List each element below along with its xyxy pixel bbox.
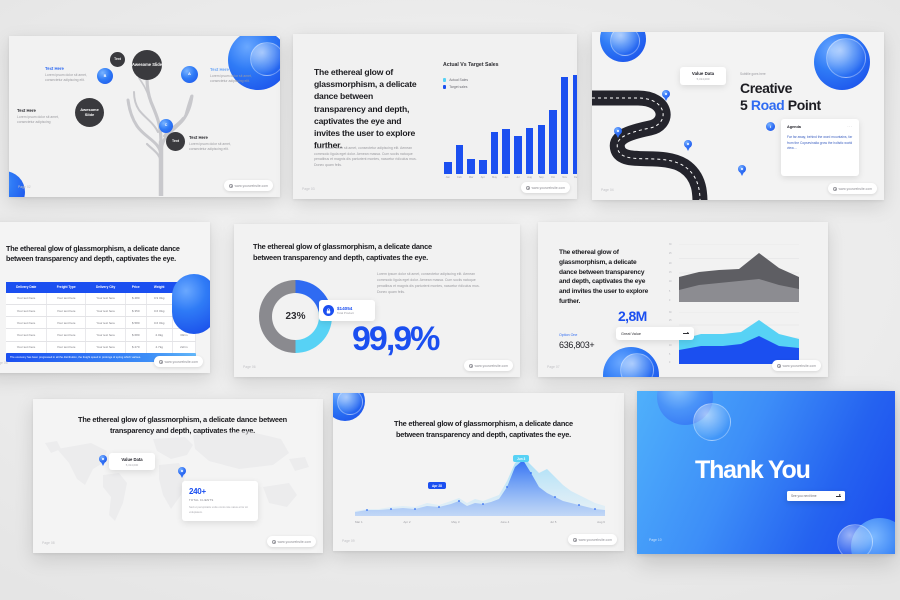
slide-thumbnail-data-table[interactable]: The ethereal glow of glassmorphism, a de… bbox=[0, 222, 210, 373]
table-column-header: Delivery City bbox=[86, 282, 125, 293]
x-axis-label: Mar bbox=[467, 176, 475, 179]
table-cell: Your text here bbox=[6, 293, 46, 305]
website-url: www.yourwebsite.com bbox=[235, 184, 268, 188]
slide-body-text: Lorem ipsum dolor sit amet, consectetur … bbox=[377, 271, 482, 296]
table-cell: 0.6 Okg bbox=[146, 304, 172, 316]
total-clients-value: 240+ bbox=[189, 487, 251, 496]
table-cell: Your text here bbox=[6, 341, 46, 353]
table-cell: 0.9 Okg bbox=[146, 293, 172, 305]
tree-label-desc: Lorem ipsum dolor sit amet, consectetur … bbox=[17, 115, 71, 125]
search-icon bbox=[469, 364, 473, 368]
bar-column bbox=[467, 159, 475, 174]
tree-node-b[interactable]: B bbox=[97, 68, 113, 84]
bar-column bbox=[514, 136, 522, 174]
bar-column bbox=[456, 145, 464, 174]
slide-thumbnail-tree-diagram[interactable]: Awesome Slide Text A B Awesome Slide C T… bbox=[9, 36, 280, 197]
table-column-header: Weight bbox=[146, 282, 172, 293]
slide-thumbnail-world-map[interactable]: The ethereal glow of glassmorphism, a de… bbox=[33, 399, 323, 553]
tree-label-left-bottom: Text Here Lorem ipsum dolor sit amet, co… bbox=[17, 108, 71, 125]
bar-segment-target bbox=[502, 129, 510, 174]
table-column-header: Freight Type bbox=[46, 282, 85, 293]
chart-title: Actual Vs Target Sales bbox=[443, 62, 499, 68]
tree-node-awesome-slide-2[interactable]: Awesome Slide bbox=[75, 98, 104, 127]
table-row[interactable]: Your text hereYour text hereYour text he… bbox=[6, 317, 196, 329]
bar-segment-target bbox=[444, 162, 452, 174]
option-value: 636,803+ bbox=[559, 340, 594, 350]
table-row[interactable]: Your text hereYour text hereYour text he… bbox=[6, 304, 196, 316]
x-axis-label: Mar 1 bbox=[355, 520, 363, 524]
website-url-pill[interactable]: www.yourwebsite.com bbox=[464, 360, 513, 371]
table-column-header: Delivery Date bbox=[6, 282, 46, 293]
search-icon bbox=[159, 360, 163, 364]
table-cell: 0.6 Okg bbox=[146, 317, 172, 329]
x-axis-label: Nov bbox=[561, 176, 569, 179]
x-axis-label: Jun bbox=[502, 176, 510, 179]
bar-segment-target bbox=[573, 75, 577, 174]
decorative-orb bbox=[172, 274, 210, 334]
table-cell: 2.0kg bbox=[146, 329, 172, 341]
y-axis-tick: 10 bbox=[669, 345, 672, 347]
map-pin[interactable] bbox=[738, 165, 746, 176]
total-clients-desc: Sed ut perspiciatis unde omnis iste natu… bbox=[189, 506, 251, 515]
lock-icon bbox=[323, 305, 334, 316]
see-you-next-time-label: See you next time bbox=[791, 494, 817, 498]
title-part-point: Point bbox=[784, 97, 820, 113]
website-url-pill[interactable]: www.yourwebsite.com bbox=[772, 360, 821, 371]
table-cell: $ 680 bbox=[125, 329, 146, 341]
x-axis-label: Apr 2 bbox=[403, 520, 410, 524]
x-axis-label: Jul bbox=[514, 176, 522, 179]
slide-headline: The ethereal glow of glassmorphism, a de… bbox=[314, 66, 424, 151]
tree-label-desc: Lorem ipsum dolor sit amet, consectetur … bbox=[210, 74, 264, 84]
tree-label-title: Text Here bbox=[189, 135, 243, 140]
slide-headline: The ethereal glow of glassmorphism, a de… bbox=[253, 242, 458, 263]
bar-column bbox=[573, 75, 577, 174]
x-axis-label: June 4 bbox=[500, 520, 509, 524]
table-row[interactable]: Your text hereYour text hereYour text he… bbox=[6, 341, 196, 353]
tooltip-value: $14054 bbox=[337, 306, 354, 311]
table-cell: $ 480 bbox=[125, 293, 146, 305]
title-part-number: 5 bbox=[740, 97, 751, 113]
table-footnote-text: The economy has been progressed in all t… bbox=[10, 356, 141, 359]
table-cell: Your text here bbox=[46, 341, 85, 353]
bar-segment-target bbox=[467, 159, 475, 174]
slide-headline: The ethereal glow of glassmorphism, a de… bbox=[559, 248, 655, 307]
slide-title-line2: 5 Road Point bbox=[740, 97, 821, 113]
info-icon[interactable]: i bbox=[766, 122, 775, 131]
map-pin[interactable] bbox=[99, 455, 107, 466]
website-url: www.yourwebsite.com bbox=[278, 540, 311, 544]
total-product-tooltip[interactable]: $14054 Total Product bbox=[319, 300, 375, 321]
table-cell: Your text here bbox=[6, 304, 46, 316]
bar-segment-target bbox=[479, 160, 487, 174]
search-icon bbox=[573, 538, 577, 542]
bar-segment-target bbox=[549, 110, 557, 174]
tree-label-right-top: Text Here Lorem ipsum dolor sit amet, co… bbox=[210, 67, 264, 84]
table-cell: Your text here bbox=[86, 317, 125, 329]
value-data-title: Value Data bbox=[692, 71, 714, 76]
bar-column bbox=[549, 110, 557, 174]
tree-label-title: Text Here bbox=[17, 108, 71, 113]
table-cell: $ 270 bbox=[125, 341, 146, 353]
bar-segment-target bbox=[561, 77, 569, 174]
table-row[interactable]: Your text hereYour text hereYour text he… bbox=[6, 329, 196, 341]
slide-thumbnail-thank-you[interactable]: Thank You See you next time Page 10 bbox=[637, 391, 895, 554]
slide-thumbnail-bar-chart[interactable]: The ethereal glow of glassmorphism, a de… bbox=[293, 34, 577, 199]
website-url: www.yourwebsite.com bbox=[783, 364, 816, 368]
trend-area-plot bbox=[355, 451, 605, 516]
trend-chart-x-axis: Mar 1Apr 2May 3June 4Jul 5Aug 6 bbox=[355, 520, 605, 524]
table-cell: 22cm bbox=[172, 341, 195, 353]
slide-deck-overview: Awesome Slide Text A B Awesome Slide C T… bbox=[0, 0, 900, 600]
bar-segment-target bbox=[538, 125, 546, 174]
slide-thumbnail-donut-chart[interactable]: The ethereal glow of glassmorphism, a de… bbox=[234, 224, 520, 377]
website-url: www.yourwebsite.com bbox=[839, 187, 872, 191]
website-url: www.yourwebsite.com bbox=[165, 360, 198, 364]
arrow-right-icon bbox=[836, 496, 841, 497]
x-axis-label: Aug bbox=[526, 176, 534, 179]
bar-column bbox=[479, 160, 487, 174]
map-pin[interactable] bbox=[684, 140, 692, 151]
x-axis-label: May 3 bbox=[451, 520, 459, 524]
ellipsis-icon[interactable]: ··· bbox=[847, 124, 853, 129]
y-axis-tick: 10 bbox=[669, 281, 672, 283]
y-axis-tick: 30 bbox=[669, 312, 672, 314]
value-data-value: 5,314,000 bbox=[697, 77, 710, 81]
table-cell: $ 350 bbox=[125, 304, 146, 316]
page-number: Page 04 bbox=[601, 188, 614, 192]
y-axis-tick: 30 bbox=[669, 244, 672, 246]
page-number: Page 07 bbox=[547, 365, 560, 369]
gray-area-plot bbox=[679, 244, 799, 302]
page-number: Page 09 bbox=[342, 539, 355, 543]
slide-headline: The ethereal glow of glassmorphism, a de… bbox=[6, 244, 206, 264]
decorative-orb-glass bbox=[837, 524, 873, 554]
value-data-title: Value Data bbox=[121, 457, 142, 462]
bar-chart-plot bbox=[444, 70, 577, 174]
annotation-label: Jun 3 bbox=[517, 457, 525, 461]
bar-segment-target bbox=[514, 136, 522, 174]
arrow-right-icon bbox=[683, 333, 689, 334]
slide-headline: The ethereal glow of glassmorphism, a de… bbox=[381, 419, 586, 440]
y-axis-tick: 5 bbox=[669, 354, 672, 356]
bar-segment-target bbox=[526, 128, 534, 174]
decorative-orb-glass bbox=[693, 403, 731, 441]
search-icon bbox=[526, 186, 530, 190]
x-axis-label: Dec bbox=[573, 176, 577, 179]
page-number: Page 05 bbox=[0, 361, 8, 365]
decorative-orb bbox=[9, 171, 25, 197]
bar-column bbox=[538, 125, 546, 174]
x-axis-label: Sep bbox=[538, 176, 546, 179]
table-cell: Your text here bbox=[46, 304, 85, 316]
page-number: Page 06 bbox=[243, 365, 256, 369]
y-axis-tick: 0 bbox=[669, 362, 672, 364]
slide-subtitle: Subtitle goes here bbox=[740, 72, 766, 76]
value-data-card[interactable]: Value Data 5,314,000 bbox=[109, 453, 155, 470]
x-axis-label: Jul 5 bbox=[550, 520, 556, 524]
table-cell: Your text here bbox=[46, 293, 85, 305]
table-cell: Your text here bbox=[6, 317, 46, 329]
y-axis-tick: 25 bbox=[669, 253, 672, 255]
search-icon bbox=[272, 540, 276, 544]
website-url: www.yourwebsite.com bbox=[475, 364, 508, 368]
page-number: Page 08 bbox=[42, 541, 55, 545]
table-cell: $ 580 bbox=[125, 317, 146, 329]
tree-node-text-2[interactable]: Text bbox=[166, 132, 185, 151]
map-pin[interactable] bbox=[614, 127, 622, 138]
big-value: 2,8M bbox=[618, 308, 647, 324]
website-url: www.yourwebsite.com bbox=[579, 538, 612, 542]
blue-area-plot bbox=[679, 312, 799, 364]
x-axis-label: Apr bbox=[479, 176, 487, 179]
x-axis-label: May bbox=[491, 176, 499, 179]
table-column-header: Price bbox=[125, 282, 146, 293]
tree-label-title: Text Here bbox=[45, 66, 99, 71]
tree-label-title: Text Here bbox=[210, 67, 264, 72]
big-percentage-value: 99,9% bbox=[352, 320, 438, 359]
table-cell: Your text here bbox=[86, 293, 125, 305]
bar-column bbox=[561, 77, 569, 174]
page-number: Page 02 bbox=[18, 185, 31, 189]
table-cell: Your text here bbox=[86, 329, 125, 341]
map-pin[interactable] bbox=[178, 467, 186, 478]
total-clients-card[interactable]: 240+ TOTAL CLIENTS Sed ut perspiciatis u… bbox=[182, 481, 258, 521]
y-axis-tick: 5 bbox=[669, 291, 672, 293]
website-url: www.yourwebsite.com bbox=[532, 186, 565, 190]
tree-label-left-top: Text Here Lorem ipsum dolor sit amet, co… bbox=[45, 66, 99, 83]
slide-body-text: Lorem ipsum dolor sit amet, consectetur … bbox=[314, 146, 419, 169]
thank-you-title: Thank You bbox=[695, 456, 810, 485]
website-url-pill[interactable]: www.yourwebsite.com bbox=[568, 534, 617, 545]
website-url-pill[interactable]: www.yourwebsite.com bbox=[224, 180, 273, 191]
y-axis-tick: 15 bbox=[669, 272, 672, 274]
great-value-button[interactable]: Great Value bbox=[616, 327, 694, 340]
agenda-card[interactable]: Agenda ··· Far far away, behind the word… bbox=[781, 119, 859, 176]
blue-area-chart: 302520151050 bbox=[679, 312, 799, 364]
freight-data-table: Delivery DateFreight TypeDelivery CityPr… bbox=[6, 282, 196, 354]
bar-segment-target bbox=[491, 132, 499, 174]
tree-node-a[interactable]: A bbox=[181, 66, 198, 83]
table-cell: Your text here bbox=[46, 317, 85, 329]
see-you-next-time-button[interactable]: See you next time bbox=[787, 491, 845, 501]
tree-label-right-bottom: Text Here Lorem ipsum dolor sit amet, co… bbox=[189, 135, 243, 152]
x-axis-label: Jan bbox=[444, 176, 452, 179]
tree-node-awesome-slide[interactable]: Awesome Slide bbox=[132, 50, 162, 80]
website-url-pill[interactable]: www.yourwebsite.com bbox=[521, 182, 570, 193]
title-part-road: Road bbox=[751, 97, 784, 113]
table-row[interactable]: Your text hereYour text hereYour text he… bbox=[6, 293, 196, 305]
table-cell: Your text here bbox=[86, 341, 125, 353]
tree-label-desc: Lorem ipsum dolor sit amet, consectetur … bbox=[45, 73, 99, 83]
bar-column bbox=[491, 132, 499, 174]
option-label: Option One bbox=[559, 333, 577, 337]
agenda-card-body: Far far away, behind the word mountains,… bbox=[781, 132, 859, 155]
gray-area-chart: 302520151050 bbox=[679, 244, 799, 302]
slide-thumbnail-road-point[interactable]: Value Data 5,314,000 Subtitle goes here … bbox=[592, 32, 884, 200]
table-cell: 4.7kg bbox=[146, 341, 172, 353]
table-header-row: Delivery DateFreight TypeDelivery CityPr… bbox=[6, 282, 196, 293]
tree-node-text[interactable]: Text bbox=[110, 52, 125, 67]
tree-node-c[interactable]: C bbox=[159, 119, 173, 133]
trend-annotation-apr28[interactable]: Apr 28 bbox=[428, 482, 446, 489]
agenda-card-title: Agenda bbox=[787, 125, 801, 129]
map-pin[interactable] bbox=[662, 90, 670, 101]
table-cell: Your text here bbox=[86, 304, 125, 316]
x-axis-label: Feb bbox=[456, 176, 464, 179]
value-data-value: 5,314,000 bbox=[126, 463, 138, 467]
bar-segment-target bbox=[456, 145, 464, 174]
total-clients-label: TOTAL CLIENTS bbox=[189, 498, 251, 502]
website-url-pill[interactable]: www.yourwebsite.com bbox=[828, 183, 877, 194]
x-axis-label: Aug 6 bbox=[597, 520, 605, 524]
page-number: Page 10 bbox=[649, 538, 662, 542]
gray-chart-y-axis: 302520151050 bbox=[669, 244, 672, 302]
slide-thumbnail-trend-chart[interactable]: The ethereal glow of glassmorphism, a de… bbox=[333, 393, 624, 551]
value-data-card[interactable]: Value Data 5,314,000 bbox=[680, 67, 726, 85]
decorative-orb-glass bbox=[826, 38, 866, 78]
page-number: Page 03 bbox=[302, 187, 315, 191]
bar-column bbox=[444, 162, 452, 174]
bar-column bbox=[502, 129, 510, 174]
tree-label-desc: Lorem ipsum dolor sit amet, consectetur … bbox=[189, 142, 243, 152]
winding-road-graphic bbox=[592, 80, 752, 200]
y-axis-tick: 25 bbox=[669, 320, 672, 322]
great-value-label: Great Value bbox=[621, 332, 641, 336]
slide-thumbnail-area-charts[interactable]: The ethereal glow of glassmorphism, a de… bbox=[538, 222, 828, 377]
search-icon bbox=[229, 184, 233, 188]
y-axis-tick: 20 bbox=[669, 263, 672, 265]
website-url-pill[interactable]: www.yourwebsite.com bbox=[267, 536, 316, 547]
slide-title-line1: Creative bbox=[740, 80, 792, 96]
trend-annotation-jun3[interactable]: Jun 3 bbox=[513, 455, 529, 462]
website-url-pill[interactable]: www.yourwebsite.com bbox=[154, 356, 203, 367]
tooltip-label: Total Product bbox=[337, 311, 354, 315]
y-axis-tick: 0 bbox=[669, 300, 672, 302]
table-cell: Your text here bbox=[46, 329, 85, 341]
bar-chart-x-axis: JanFebMarAprMayJunJulAugSepOctNovDec bbox=[444, 176, 577, 179]
table-cell: Your text here bbox=[6, 329, 46, 341]
bar-column bbox=[526, 128, 534, 174]
annotation-label: Apr 28 bbox=[432, 484, 442, 488]
x-axis-label: Oct bbox=[549, 176, 557, 179]
search-icon bbox=[777, 364, 781, 368]
search-icon bbox=[833, 187, 837, 191]
